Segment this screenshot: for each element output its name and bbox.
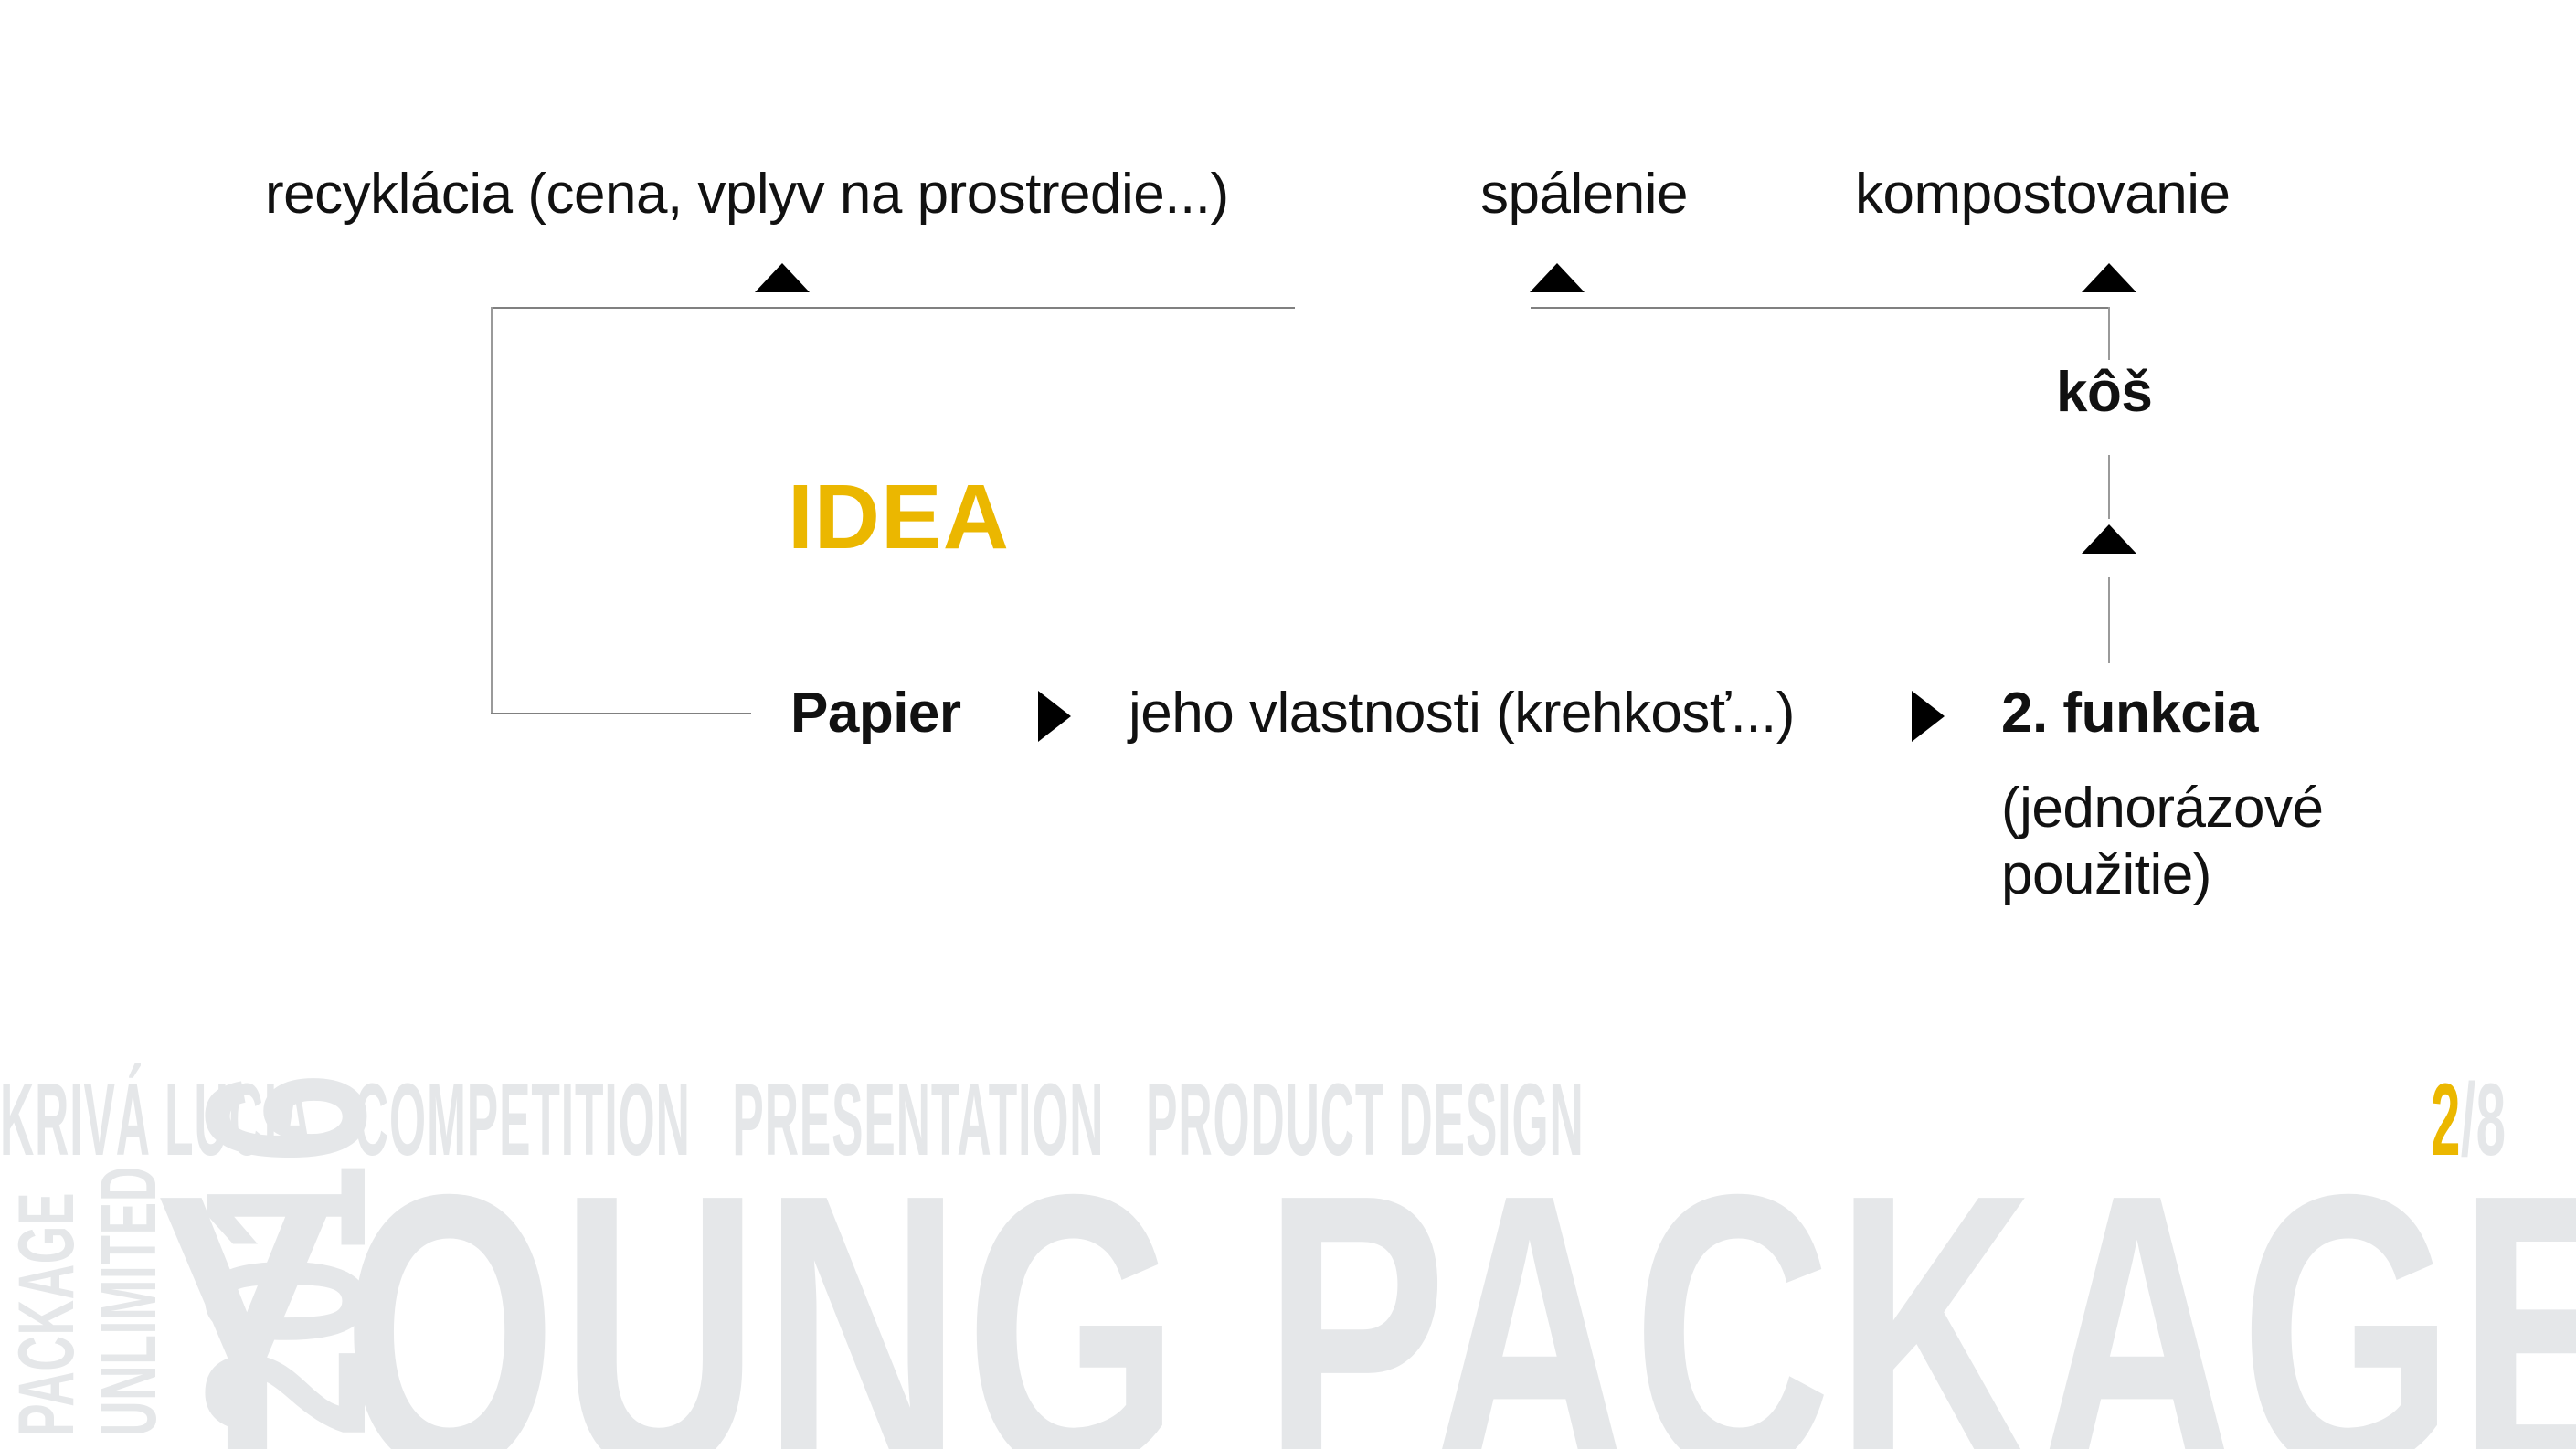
arrow-up-icon-to-bin xyxy=(2082,524,2136,554)
slide-diagram: recyklácia (cena, vplyv na prostredie...… xyxy=(0,0,2576,987)
label-function-note-line-1: (jednorázové xyxy=(2001,775,2458,841)
connector-line-bin-to-arrow xyxy=(2108,455,2110,519)
label-properties: jeho vlastnosti (krehkosť...) xyxy=(1129,683,1795,743)
label-function-title: 2. funkcia xyxy=(2001,683,2258,743)
slide-footer: KRIVÁ LUCIA COMPETITION PRESENTATION PRO… xyxy=(0,974,2576,1449)
label-idea: IDEA xyxy=(788,471,1010,563)
footer-category-3: PRODUCT DESIGN xyxy=(1146,1063,1584,1177)
arrow-up-icon-composting xyxy=(2082,263,2136,292)
bracket-bottom-line-left xyxy=(491,713,751,714)
connector-line-to-bin xyxy=(2108,307,2110,360)
bracket-top-line-left xyxy=(491,307,1295,309)
brand-year: 2016 xyxy=(172,1073,400,1438)
footer-credit: KRIVÁ LUCIA COMPETITION PRESENTATION PRO… xyxy=(0,1069,1585,1171)
arrow-up-icon-burning xyxy=(1530,263,1585,292)
page-total: 8 xyxy=(2476,1063,2507,1177)
bracket-top-line-right xyxy=(1531,307,2110,309)
label-recycling: recyklácia (cena, vplyv na prostredie...… xyxy=(265,164,1229,224)
arrow-up-icon-recycling xyxy=(755,263,810,292)
page-separator: / xyxy=(2461,1063,2476,1177)
brand-title: YOUNG PACKAGE xyxy=(155,1137,2576,1449)
brand-org-line-1: PACKAGE xyxy=(7,1192,86,1436)
page-current: 2 xyxy=(2431,1063,2461,1177)
brand-org-line-2: UNLIMITED xyxy=(90,1166,168,1436)
label-material: Papier xyxy=(790,683,961,743)
footer-category-2: PRESENTATION xyxy=(732,1063,1104,1177)
connector-line-arrow-to-function xyxy=(2108,577,2110,663)
label-bin: kôš xyxy=(2056,363,2152,422)
label-function-note-line-2: použitie) xyxy=(2001,841,2458,908)
label-burning: spálenie xyxy=(1480,164,1688,224)
bracket-left-line xyxy=(491,307,493,714)
footer-author: KRIVÁ LUCIA xyxy=(0,1063,313,1177)
page-indicator: 2/8 xyxy=(2431,1069,2507,1171)
chevron-right-icon-1 xyxy=(1038,691,1071,742)
chevron-right-icon-2 xyxy=(1912,691,1945,742)
label-composting: kompostovanie xyxy=(1855,164,2231,224)
footer-category-1: COMPETITION xyxy=(355,1063,691,1177)
